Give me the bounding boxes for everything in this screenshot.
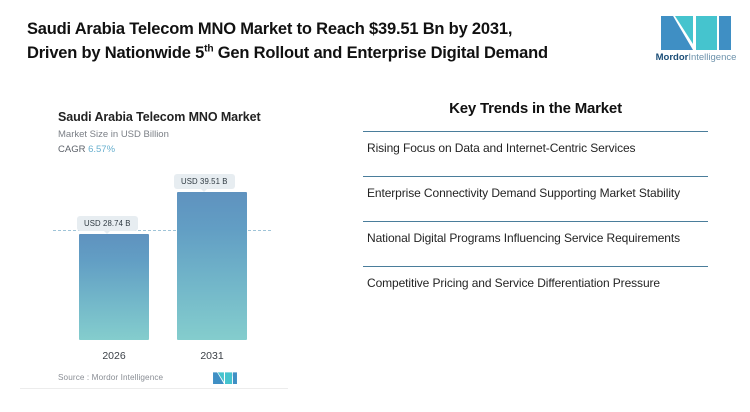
trend-item-label: Competitive Pricing and Service Differen… — [367, 276, 702, 292]
trend-item-label: National Digital Programs Influencing Se… — [367, 231, 702, 247]
mordor-intelligence-logo[interactable]: MordorIntelligence — [655, 12, 737, 70]
logo-word-intelligence: Intelligence — [688, 52, 736, 63]
page-title: Saudi Arabia Telecom MNO Market to Reach… — [27, 18, 612, 66]
page-title-line-2a: Driven by Nationwide 5 — [27, 44, 204, 62]
source-mordor-logo-icon — [213, 371, 237, 384]
mordor-logo-wordmark: MordorIntelligence — [655, 53, 737, 63]
trend-item-label: Rising Focus on Data and Internet-Centri… — [367, 141, 702, 157]
trend-item[interactable]: Rising Focus on Data and Internet-Centri… — [363, 131, 708, 176]
mordor-logo-mark-icon — [661, 12, 731, 50]
trend-item[interactable]: Enterprise Connectivity Demand Supportin… — [363, 176, 708, 221]
trend-item[interactable]: National Digital Programs Influencing Se… — [363, 221, 708, 266]
market-size-chart-card: Saudi Arabia Telecom MNO Market Market S… — [20, 96, 288, 389]
bar-value-badge-2031: USD 39.51 B — [174, 174, 235, 190]
cagr-value: 6.57% — [88, 144, 115, 155]
bar-2026[interactable] — [79, 234, 149, 340]
trend-item-label: Enterprise Connectivity Demand Supportin… — [367, 186, 702, 202]
trend-item[interactable]: Competitive Pricing and Service Differen… — [363, 266, 708, 311]
bar-2031[interactable] — [177, 192, 247, 340]
page-title-line-1: Saudi Arabia Telecom MNO Market to Reach… — [27, 20, 512, 38]
chart-source: Source : Mordor Intelligence — [58, 373, 163, 382]
key-trends-panel: Key Trends in the Market Rising Focus on… — [363, 100, 708, 311]
bar-value-badge-2026: USD 28.74 B — [77, 216, 138, 232]
x-axis-label-2031: 2031 — [177, 350, 247, 362]
chart-title: Saudi Arabia Telecom MNO Market — [58, 110, 261, 124]
key-trends-title: Key Trends in the Market — [363, 100, 708, 117]
page-header: Saudi Arabia Telecom MNO Market to Reach… — [0, 0, 750, 88]
x-axis-label-2026: 2026 — [79, 350, 149, 362]
chart-plot-area: USD 28.74 B USD 39.51 B 2026 2031 Source… — [20, 156, 288, 388]
chart-subtitle: Market Size in USD Billion — [58, 129, 169, 140]
chart-cagr: CAGR 6.57% — [58, 144, 115, 155]
page-title-superscript: th — [204, 43, 213, 54]
page-title-line-2b: Gen Rollout and Enterprise Digital Deman… — [213, 44, 547, 62]
logo-word-mordor: Mordor — [656, 52, 689, 63]
cagr-label: CAGR — [58, 144, 85, 155]
